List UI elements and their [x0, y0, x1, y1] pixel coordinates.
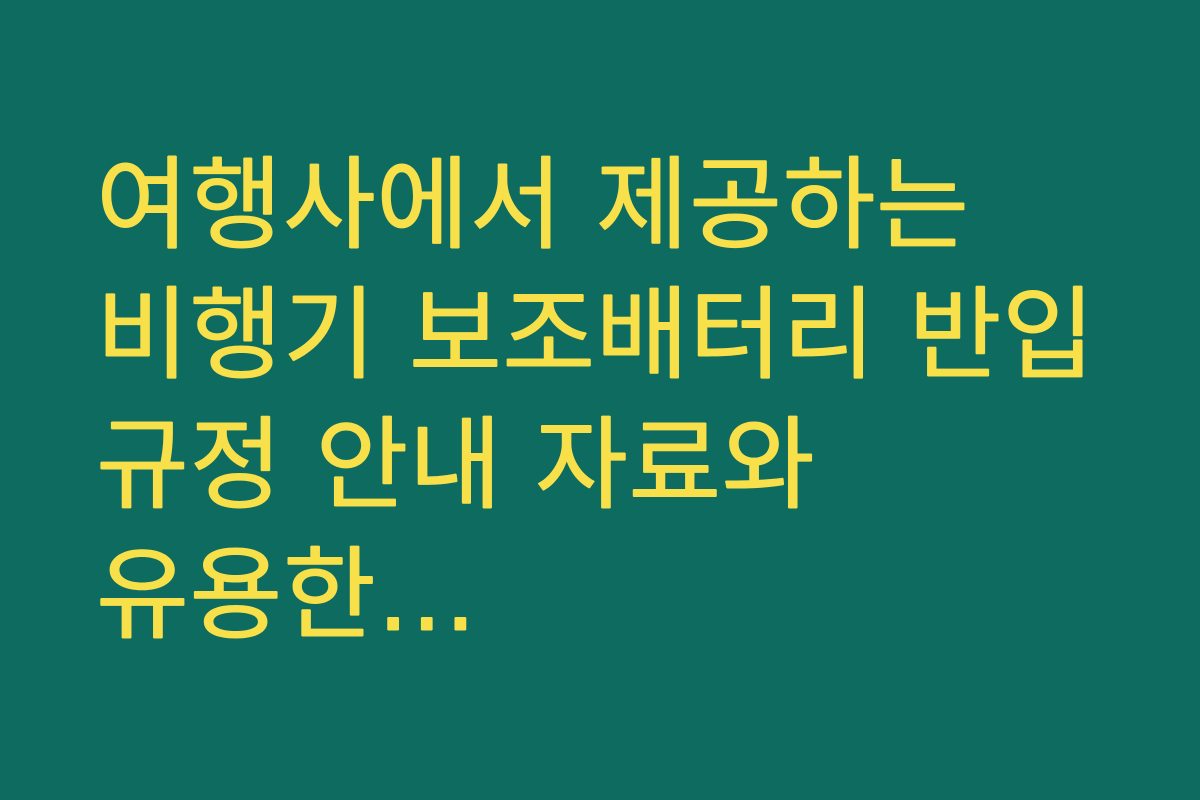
- text-thumbnail-card: 여행사에서 제공하는 비행기 보조배터리 반입 규정 안내 자료와 유용한…: [0, 0, 1200, 800]
- headline-title: 여행사에서 제공하는 비행기 보조배터리 반입 규정 안내 자료와 유용한…: [96, 140, 1104, 660]
- headline-block: 여행사에서 제공하는 비행기 보조배터리 반입 규정 안내 자료와 유용한…: [90, 140, 1110, 660]
